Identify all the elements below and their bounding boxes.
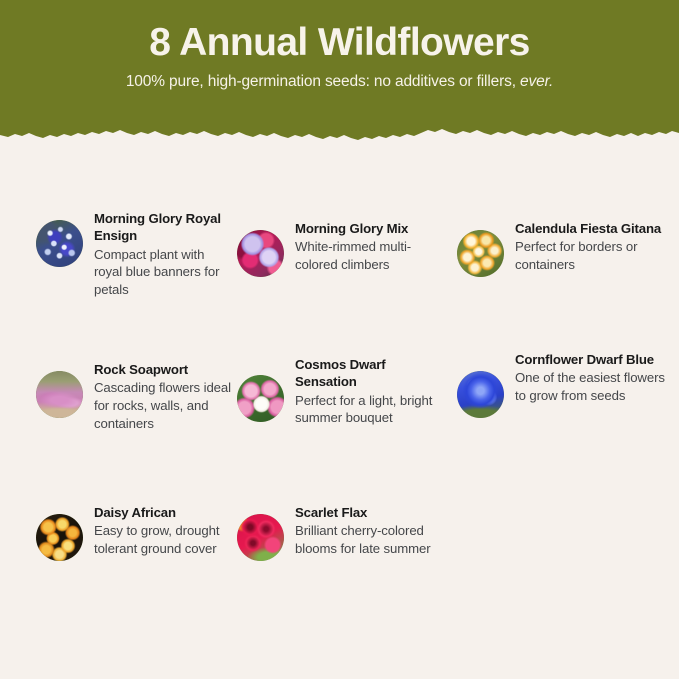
list-item[interactable]: Cosmos Dwarf Sensation Perfect for a lig… — [232, 346, 447, 496]
scarlet-flax-thumbnail — [237, 514, 284, 561]
list-row: Daisy African Easy to grow, drought tole… — [0, 496, 679, 646]
page-subtitle: 100% pure, high-germination seeds: no ad… — [126, 73, 553, 91]
item-text-block: Calendula Fiesta Gitana Perfect for bord… — [504, 196, 679, 274]
item-description: Perfect for borders or containers — [515, 238, 679, 273]
item-name: Calendula Fiesta Gitana — [515, 220, 679, 237]
item-name: Cornflower Dwarf Blue — [515, 351, 679, 368]
item-description: One of the easiest flowers to grow from … — [515, 369, 679, 404]
item-description: Brilliant cherry-colored blooms for late… — [295, 522, 447, 557]
item-description: White-rimmed multi-colored climbers — [295, 238, 447, 273]
item-name: Scarlet Flax — [295, 504, 447, 521]
flower-photo — [457, 371, 504, 418]
list-item[interactable]: Scarlet Flax Brilliant cherry-colored bl… — [232, 496, 447, 646]
item-description: Compact plant with royal blue banners fo… — [94, 246, 232, 299]
morning-glory-royal-ensign-thumbnail — [36, 220, 83, 267]
item-name: Daisy African — [94, 504, 232, 521]
list-row: Morning Glory Royal Ensign Compact plant… — [0, 196, 679, 346]
item-text-block: Cosmos Dwarf Sensation Perfect for a lig… — [284, 346, 447, 427]
flower-photo — [237, 230, 284, 277]
header-banner: 8 Annual Wildflowers 100% pure, high-ger… — [0, 0, 679, 143]
item-name: Morning Glory Mix — [295, 220, 447, 237]
item-text-block: Scarlet Flax Brilliant cherry-colored bl… — [284, 496, 447, 558]
subtitle-lead-text: 100% pure, high-germination seeds: no ad… — [126, 73, 520, 90]
list-row: Rock Soapwort Cascading flowers ideal fo… — [0, 346, 679, 496]
list-item[interactable]: Daisy African Easy to grow, drought tole… — [0, 496, 232, 646]
header-text-block: 8 Annual Wildflowers 100% pure, high-ger… — [0, 0, 679, 132]
flower-photo — [36, 514, 83, 561]
morning-glory-mix-thumbnail — [237, 230, 284, 277]
calendula-fiesta-gitana-thumbnail — [457, 230, 504, 277]
cosmos-dwarf-sensation-thumbnail — [237, 375, 284, 422]
page-title: 8 Annual Wildflowers — [149, 22, 530, 64]
list-item[interactable]: Morning Glory Mix White-rimmed multi-col… — [232, 196, 447, 346]
wildflower-list: Morning Glory Royal Ensign Compact plant… — [0, 196, 679, 646]
flower-photo — [36, 220, 83, 267]
item-description: Perfect for a light, bright summer bouqu… — [295, 392, 447, 427]
list-item[interactable]: Cornflower Dwarf Blue One of the easiest… — [447, 346, 679, 496]
list-item[interactable]: Morning Glory Royal Ensign Compact plant… — [0, 196, 232, 346]
item-name: Rock Soapwort — [94, 361, 232, 378]
item-text-block: Rock Soapwort Cascading flowers ideal fo… — [83, 346, 232, 432]
subtitle-emphasis-text: ever. — [520, 73, 553, 90]
flower-photo — [237, 375, 284, 422]
item-name: Cosmos Dwarf Sensation — [295, 356, 447, 391]
cornflower-dwarf-blue-thumbnail — [457, 371, 504, 418]
item-text-block: Morning Glory Mix White-rimmed multi-col… — [284, 196, 447, 274]
item-description: Easy to grow, drought tolerant ground co… — [94, 522, 232, 557]
flower-photo — [237, 514, 284, 561]
item-description: Cascading flowers ideal for rocks, walls… — [94, 379, 232, 432]
daisy-african-thumbnail — [36, 514, 83, 561]
item-name: Morning Glory Royal Ensign — [94, 210, 232, 245]
list-item[interactable]: Rock Soapwort Cascading flowers ideal fo… — [0, 346, 232, 496]
rock-soapwort-thumbnail — [36, 371, 83, 418]
flower-photo — [457, 230, 504, 277]
item-text-block: Morning Glory Royal Ensign Compact plant… — [83, 196, 232, 298]
flower-photo — [36, 371, 83, 418]
list-item[interactable]: Calendula Fiesta Gitana Perfect for bord… — [447, 196, 679, 346]
item-text-block: Cornflower Dwarf Blue One of the easiest… — [504, 346, 679, 405]
item-text-block: Daisy African Easy to grow, drought tole… — [83, 496, 232, 558]
